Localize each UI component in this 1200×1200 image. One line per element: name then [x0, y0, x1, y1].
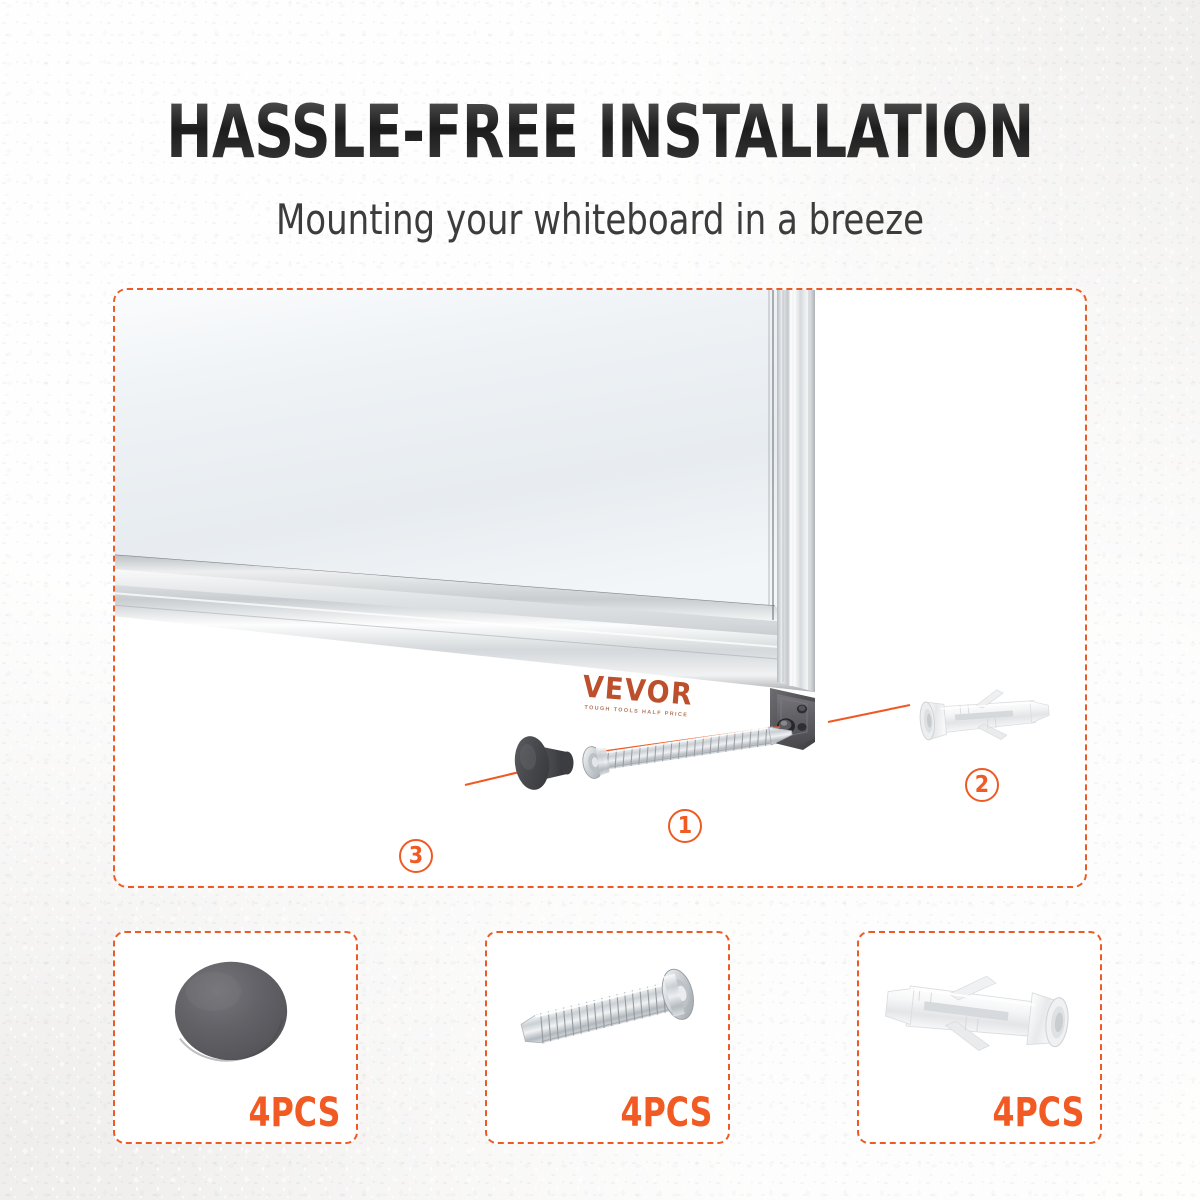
- screw-illustration: [581, 717, 794, 780]
- cover-cap-icon: [115, 939, 356, 1079]
- header: HASSLE-FREE INSTALLATION Mounting your w…: [0, 96, 1200, 244]
- callout-badge-2: 2: [965, 768, 999, 802]
- part-quantity-cover-cap: 4PCS: [248, 1090, 340, 1136]
- wall-anchor-icon: [859, 939, 1100, 1079]
- cover-cap-illustration: [512, 734, 574, 792]
- diagram-illustration: VEVOR TOUGH TOOLS HALF PRICE: [115, 290, 1085, 886]
- page-title: HASSLE-FREE INSTALLATION: [96, 96, 1104, 169]
- part-quantity-mounting-screw: 4PCS: [620, 1090, 712, 1136]
- part-box-mounting-screw: 4PCS: [485, 931, 730, 1144]
- whiteboard-panel: [115, 290, 815, 692]
- installation-diagram-panel: VEVOR TOUGH TOOLS HALF PRICE: [113, 288, 1087, 888]
- screw-icon: [487, 939, 728, 1079]
- leader-line-anchor: [828, 705, 910, 722]
- part-quantity-wall-anchor: 4PCS: [992, 1090, 1084, 1136]
- part-box-cover-cap: 4PCS: [113, 931, 358, 1144]
- part-box-wall-anchor: 4PCS: [857, 931, 1102, 1144]
- product-logo: VEVOR TOUGH TOOLS HALF PRICE: [581, 670, 695, 719]
- callout-badge-1: 1: [668, 809, 702, 843]
- page-subtitle: Mounting your whiteboard in a breeze: [60, 195, 1140, 244]
- whiteboard-corner-diagram: VEVOR TOUGH TOOLS HALF PRICE: [115, 290, 1085, 886]
- callout-badge-3: 3: [399, 839, 433, 873]
- wall-anchor-illustration: [918, 685, 1051, 746]
